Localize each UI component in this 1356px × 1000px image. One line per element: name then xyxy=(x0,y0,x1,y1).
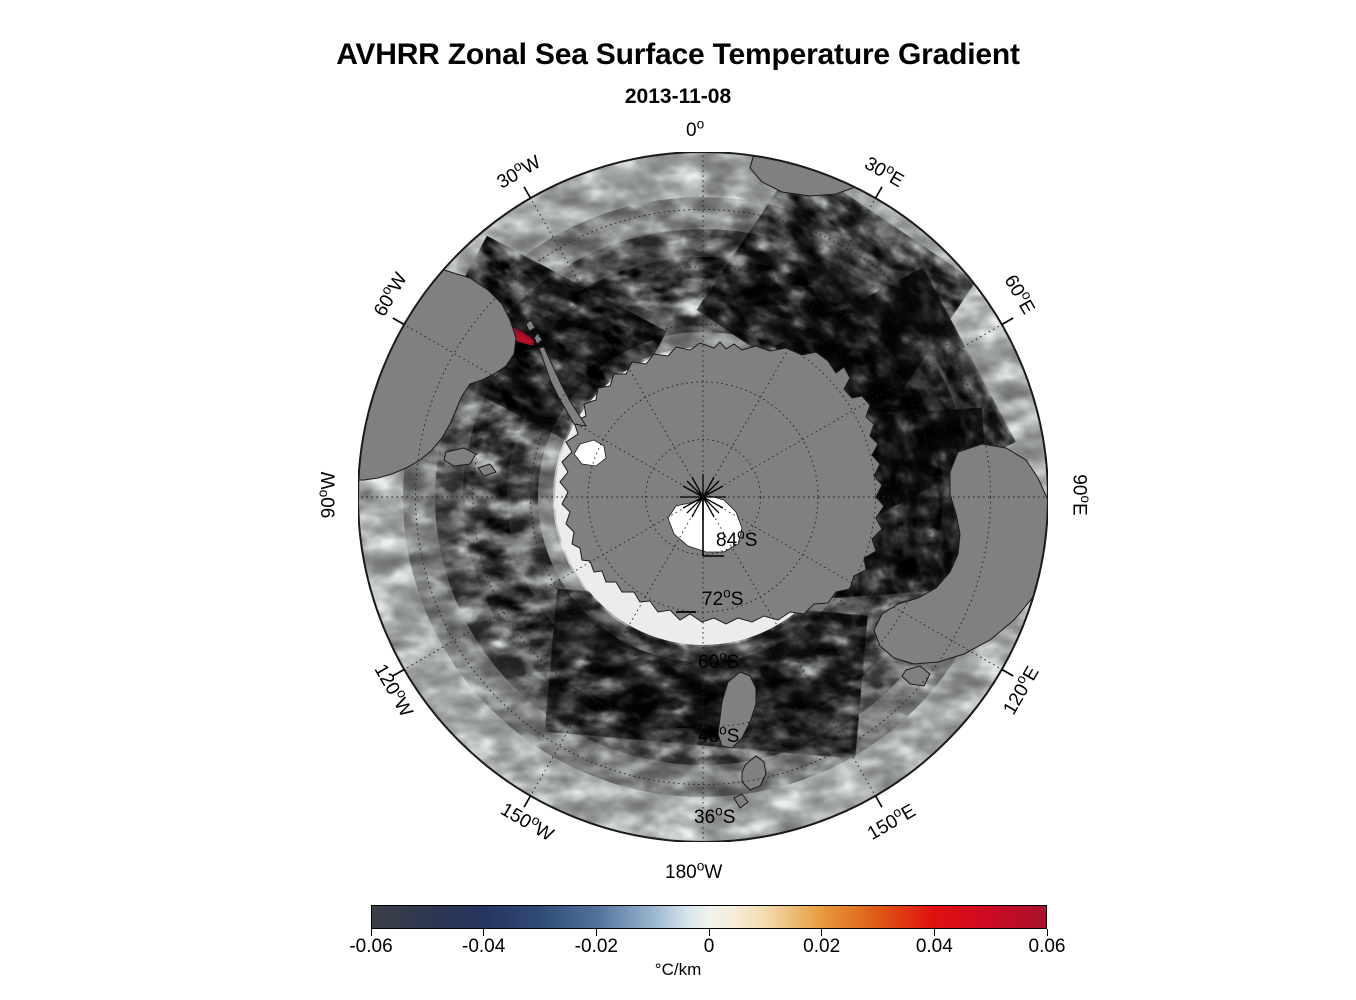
figure-date-subtitle: 2013-11-08 xyxy=(0,85,1356,109)
lon-label-90E: 90oE xyxy=(1068,474,1090,515)
lon-label-90W: 90oW xyxy=(318,472,340,519)
colorbar-tick-label: -0.06 xyxy=(311,936,431,958)
page-title: AVHRR Zonal Sea Surface Temperature Grad… xyxy=(0,38,1356,72)
colorbar-tick xyxy=(596,929,597,936)
colorbar-tick-label: 0.02 xyxy=(762,936,882,958)
lat-label-48S: 48oS xyxy=(698,726,739,748)
lat-label-84S: 84oS xyxy=(716,530,757,552)
colorbar-tick-label: 0.06 xyxy=(987,936,1107,958)
lat-label-60S: 60oS xyxy=(698,652,739,674)
lon-label-180W: 180oW xyxy=(665,862,722,884)
colorbar-tick-label: -0.02 xyxy=(536,936,656,958)
figure-canvas: AVHRR Zonal Sea Surface Temperature Grad… xyxy=(0,0,1356,1000)
colorbar-tick-label: 0 xyxy=(649,936,769,958)
colorbar-tick xyxy=(821,929,822,936)
colorbar-tick-label: 0.04 xyxy=(874,936,994,958)
colorbar-gradient xyxy=(371,905,1047,929)
colorbar-tick-label: -0.04 xyxy=(424,936,544,958)
lat-label-72S: 72oS xyxy=(702,589,743,611)
colorbar-tick xyxy=(934,929,935,936)
colorbar-unit-label: °C/km xyxy=(0,960,1356,980)
lat-label-36S: 36oS xyxy=(694,807,735,829)
colorbar-tick xyxy=(1047,929,1048,936)
colorbar-tick xyxy=(483,929,484,936)
colorbar[interactable] xyxy=(371,905,1047,929)
colorbar-tick xyxy=(709,929,710,936)
lon-label-0: 0o xyxy=(686,120,704,142)
polar-map[interactable]: 0o 30oE 60oE 90oE 120oE 150oE 180oW 150o… xyxy=(358,152,1048,842)
colorbar-tick xyxy=(371,929,372,936)
